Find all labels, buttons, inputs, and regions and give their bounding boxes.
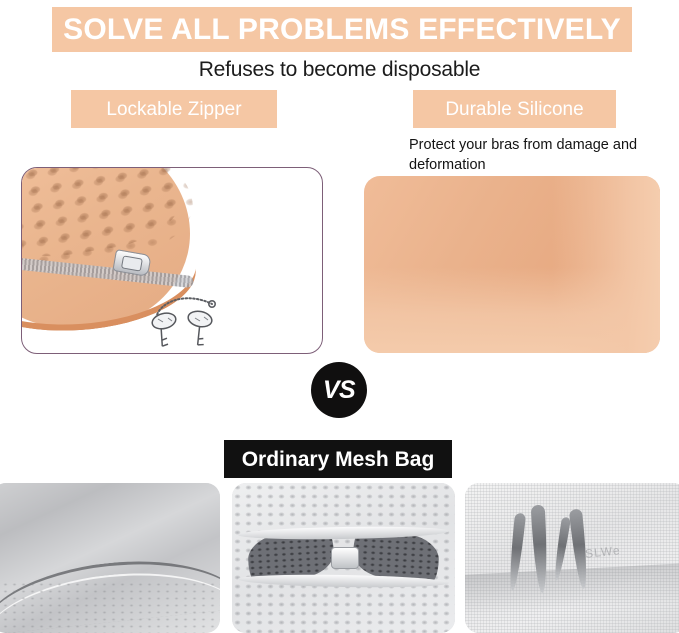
badge-ordinary-mesh-bag: Ordinary Mesh Bag	[224, 440, 452, 478]
durable-silicone-description: Protect your bras from damage and deform…	[409, 136, 649, 175]
photo-wet-crumpled-fabric	[0, 483, 220, 633]
mesh-bag-zipper-slider-icon	[331, 547, 359, 569]
vs-badge: VS	[311, 362, 367, 418]
photo-mesh-bag-zipper	[232, 483, 455, 633]
photo-torn-fabric: SLWe	[465, 483, 679, 633]
ordinary-mesh-bag-photo-row: SLWe	[0, 483, 679, 633]
header-banner-title: SOLVE ALL PROBLEMS EFFECTIVELY	[63, 15, 621, 45]
badge-durable-silicone: Durable Silicone	[413, 90, 616, 128]
header-banner: SOLVE ALL PROBLEMS EFFECTIVELY	[52, 7, 632, 52]
silicone-right-highlight	[552, 176, 660, 353]
photo-panel-durable-silicone	[364, 176, 660, 353]
badge-lockable-zipper-label: Lockable Zipper	[106, 100, 241, 119]
badge-durable-silicone-label: Durable Silicone	[445, 100, 583, 119]
badge-ordinary-mesh-bag-label: Ordinary Mesh Bag	[242, 449, 435, 470]
wet-fabric-mesh-bottom	[0, 581, 220, 633]
badge-lockable-zipper: Lockable Zipper	[71, 90, 277, 128]
header-subtitle: Refuses to become disposable	[0, 58, 679, 82]
vs-badge-label: VS	[323, 378, 355, 403]
padlock-keys-icon	[142, 288, 228, 348]
photo-panel-lockable-zipper: Warm reminder: Please removethe key befo…	[21, 167, 323, 354]
